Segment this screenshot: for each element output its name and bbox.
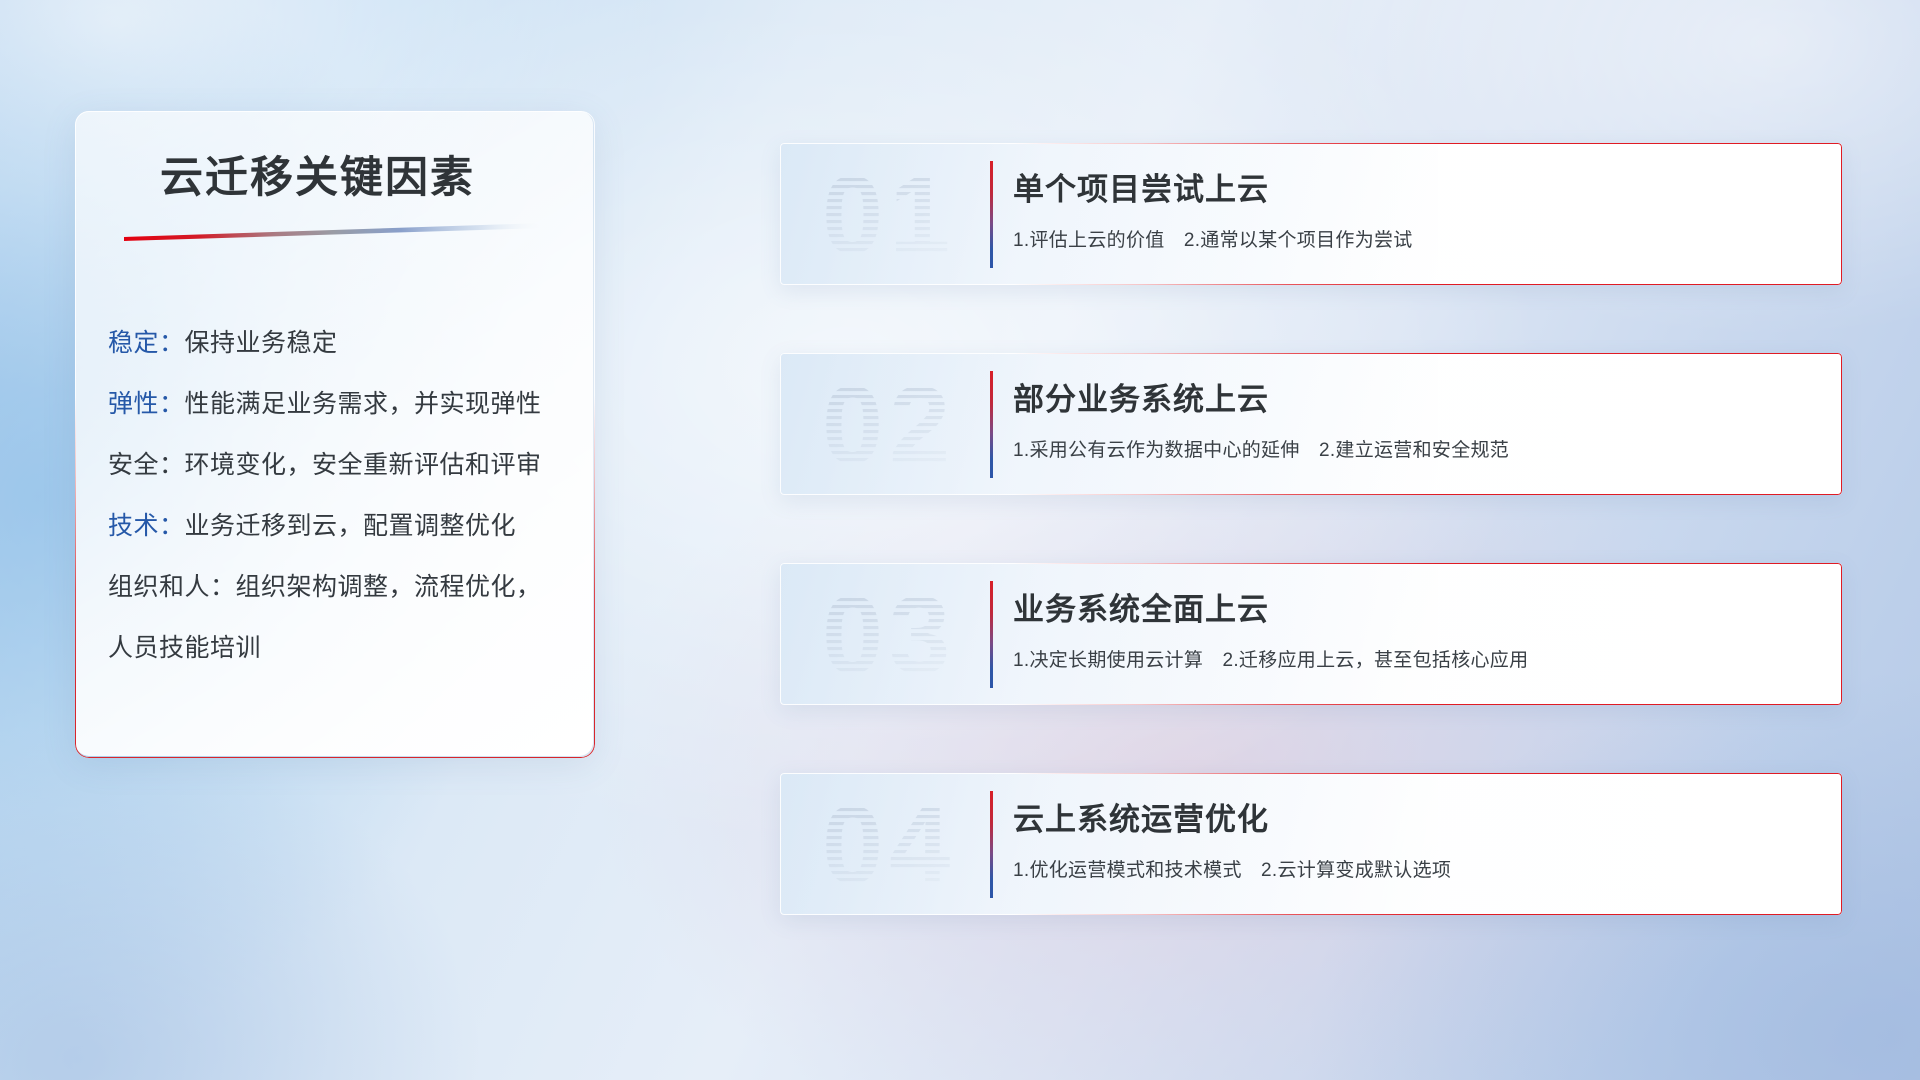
list-item-key: 弹性： (108, 390, 185, 418)
list-item-key: 稳定： (108, 329, 185, 357)
list-item-value: 保持业务稳定 (185, 329, 338, 357)
step-card-03[interactable]: 03 业务系统全面上云 1.决定长期使用云计算 2.迁移应用上云，甚至包括核心应… (780, 563, 1842, 705)
list-item-key: 组织和人： (108, 573, 236, 601)
list-item: 人员技能培训 (108, 618, 578, 679)
svg-text:01: 01 (822, 157, 956, 275)
step-divider-line (990, 371, 993, 478)
list-item-key: 技术： (108, 512, 185, 540)
card-red-accent (780, 143, 1842, 285)
card-red-accent (780, 773, 1842, 915)
list-item-value: 性能满足业务需求，并实现弹性 (185, 390, 542, 418)
step-title: 单个项目尝试上云 (1013, 164, 1269, 209)
card-border (780, 563, 1842, 705)
card-border (780, 773, 1842, 915)
step-number-watermark-02: 02 (820, 367, 970, 485)
step-title: 云上系统运营优化 (1013, 794, 1269, 839)
list-item-key: 安全： (108, 451, 185, 479)
list-item: 技术：业务迁移到云，配置调整优化 (108, 496, 578, 557)
step-number-watermark-03: 03 (820, 577, 970, 695)
key-factors-list: 稳定：保持业务稳定 弹性：性能满足业务需求，并实现弹性 安全：环境变化，安全重新… (108, 313, 578, 679)
svg-text:03: 03 (822, 577, 956, 695)
title-underline-bar (124, 223, 544, 241)
page-title: 云迁移关键因素 (160, 143, 475, 205)
step-description: 1.优化运营模式和技术模式 2.云计算变成默认选项 (1013, 855, 1451, 882)
list-item: 弹性：性能满足业务需求，并实现弹性 (108, 374, 578, 435)
list-item: 组织和人：组织架构调整，流程优化， (108, 557, 578, 618)
list-item: 安全：环境变化，安全重新评估和评审 (108, 435, 578, 496)
step-description: 1.评估上云的价值 2.通常以某个项目作为尝试 (1013, 225, 1413, 252)
card-red-accent (780, 353, 1842, 495)
step-card-01[interactable]: 01 单个项目尝试上云 1.评估上云的价值 2.通常以某个项目作为尝试 (780, 143, 1842, 285)
list-item-value: 组织架构调整，流程优化， (236, 573, 542, 601)
card-red-accent (780, 563, 1842, 705)
card-border (780, 143, 1842, 285)
list-item-value: 环境变化，安全重新评估和评审 (185, 451, 542, 479)
step-divider-line (990, 791, 993, 898)
step-description: 1.决定长期使用云计算 2.迁移应用上云，甚至包括核心应用 (1013, 645, 1528, 672)
step-divider-line (990, 161, 993, 268)
step-card-02[interactable]: 02 部分业务系统上云 1.采用公有云作为数据中心的延伸 2.建立运营和安全规范 (780, 353, 1842, 495)
step-description: 1.采用公有云作为数据中心的延伸 2.建立运营和安全规范 (1013, 435, 1509, 462)
step-title: 部分业务系统上云 (1013, 374, 1269, 419)
list-item: 稳定：保持业务稳定 (108, 313, 578, 374)
step-number-watermark-01: 01 (820, 157, 970, 275)
step-title: 业务系统全面上云 (1013, 584, 1269, 629)
step-number-watermark-04: 04 (820, 787, 970, 905)
step-divider-line (990, 581, 993, 688)
card-border (780, 353, 1842, 495)
svg-text:02: 02 (822, 367, 956, 485)
svg-text:04: 04 (822, 787, 956, 905)
list-item-value: 业务迁移到云，配置调整优化 (185, 512, 517, 540)
list-item-value: 人员技能培训 (108, 634, 261, 662)
slide-canvas: 云迁移关键因素 稳定：保持业务稳定 弹性：性能满足业务需求，并实现弹性 (0, 0, 1920, 1080)
step-card-04[interactable]: 04 云上系统运营优化 1.优化运营模式和技术模式 2.云计算变成默认选项 (780, 773, 1842, 915)
